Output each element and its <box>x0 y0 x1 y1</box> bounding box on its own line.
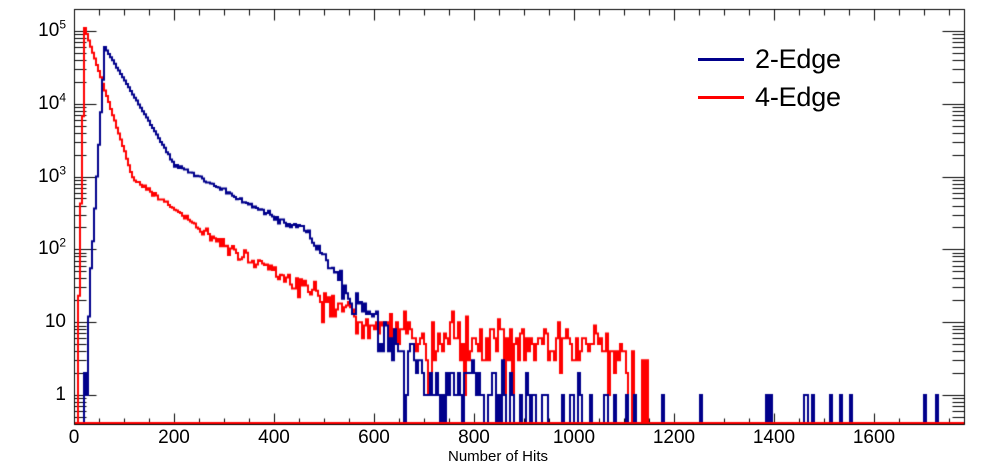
x-axis-title: Number of Hits <box>0 448 996 465</box>
x-tick-label: 600 <box>358 427 390 449</box>
y-tick-label: 105 <box>38 20 66 42</box>
x-tick-label: 1000 <box>553 427 595 449</box>
x-tick-label: 1400 <box>753 427 795 449</box>
y-tick-label: 1 <box>55 384 66 406</box>
histogram-plot: 2-Edge 4-Edge Number of Hits 02004006008… <box>0 0 996 472</box>
x-tick-label: 1200 <box>653 427 695 449</box>
legend-label-2-edge: 2-Edge <box>755 44 841 75</box>
x-tick-label: 400 <box>258 427 290 449</box>
legend: 2-Edge 4-Edge <box>698 40 928 116</box>
legend-swatch-2-edge <box>698 58 744 61</box>
legend-label-4-edge: 4-Edge <box>755 82 841 113</box>
x-tick-label: 200 <box>158 427 190 449</box>
legend-entry-4-edge: 4-Edge <box>698 78 928 116</box>
x-tick-label: 1600 <box>853 427 895 449</box>
x-tick-label: 800 <box>458 427 490 449</box>
x-tick-label: 0 <box>69 427 80 449</box>
y-tick-label: 104 <box>38 93 66 115</box>
y-tick-label: 103 <box>38 166 66 188</box>
y-tick-label: 10 <box>45 311 66 333</box>
y-tick-label: 102 <box>38 238 66 260</box>
legend-entry-2-edge: 2-Edge <box>698 40 928 78</box>
legend-swatch-4-edge <box>698 96 744 99</box>
